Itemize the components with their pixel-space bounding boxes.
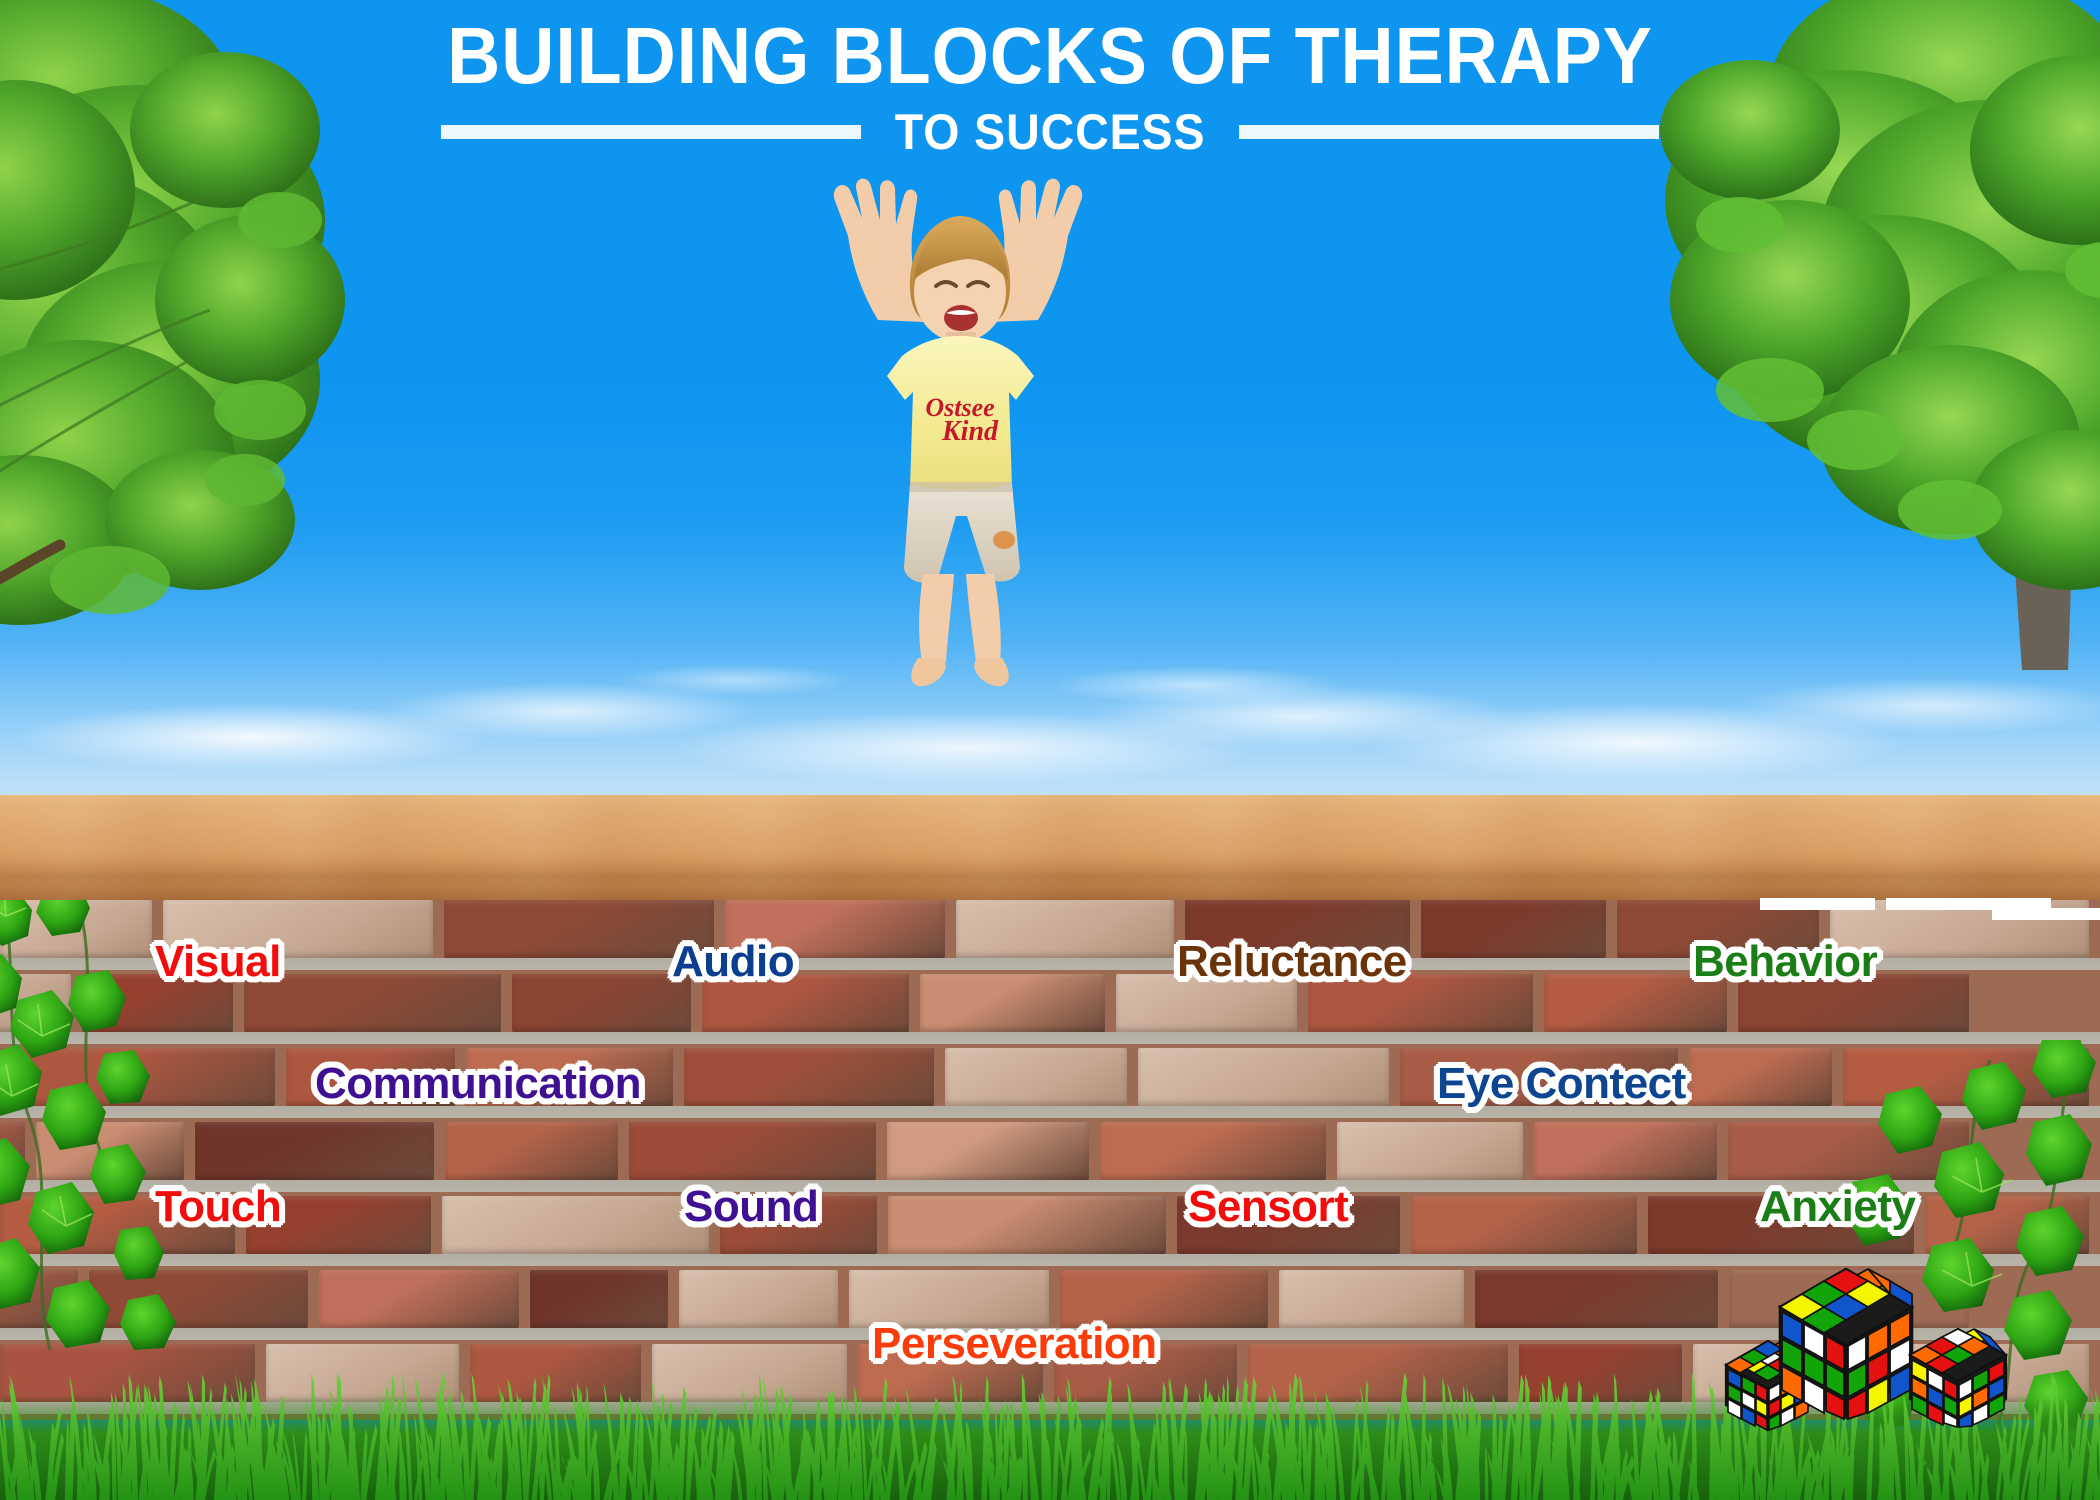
wall-label-sound[interactable]: Sound xyxy=(684,1185,818,1229)
left-arm xyxy=(834,179,924,322)
wall-label-touch[interactable]: Touch xyxy=(155,1185,281,1229)
rubiks-cube-right xyxy=(1910,1329,2006,1427)
wall-label-audio[interactable]: Audio xyxy=(672,940,794,984)
brick xyxy=(679,1270,838,1328)
brick xyxy=(1138,1048,1390,1106)
brick xyxy=(1411,1196,1637,1254)
right-leg xyxy=(966,574,1001,662)
brick xyxy=(1689,1048,1832,1106)
right-foot xyxy=(974,658,1009,686)
wall-label-visual[interactable]: Visual xyxy=(155,940,281,984)
brick xyxy=(244,974,501,1032)
plank-streak-3 xyxy=(1992,908,2100,920)
wall-label-communication[interactable]: Communication xyxy=(315,1062,641,1106)
brick xyxy=(530,1270,669,1328)
brick xyxy=(920,974,1105,1032)
brick xyxy=(887,1122,1089,1180)
brick xyxy=(1100,1122,1325,1180)
subtitle-row: TO SUCCESS xyxy=(0,104,2100,160)
brick xyxy=(319,1270,519,1328)
rubiks-cube-icon xyxy=(1722,1267,2022,1462)
brick xyxy=(0,974,71,1032)
wall-label-behavior[interactable]: Behavior xyxy=(1693,940,1877,984)
brick xyxy=(1728,1122,1969,1180)
shirt-logo-line2: Kind xyxy=(941,416,999,447)
jumping-child-icon: Ostsee Kind xyxy=(790,170,1130,690)
brick xyxy=(1337,1122,1524,1180)
brick xyxy=(1534,1122,1716,1180)
brick-row xyxy=(0,974,1980,1032)
left-leg xyxy=(919,574,954,662)
title-rule-left xyxy=(441,125,861,139)
brick xyxy=(1279,1270,1464,1328)
brick xyxy=(888,1196,1166,1254)
wooden-plank xyxy=(0,795,2100,900)
brick xyxy=(36,1122,184,1180)
wall-label-anxiety[interactable]: Anxiety xyxy=(1760,1185,1915,1229)
brick xyxy=(442,1196,710,1254)
brick xyxy=(956,900,1173,958)
wall-label-sensort[interactable]: Sensort xyxy=(1188,1185,1348,1229)
wall-label-eye-contect[interactable]: Eye Contect xyxy=(1437,1062,1686,1106)
left-foot xyxy=(911,658,946,686)
brick xyxy=(629,1122,876,1180)
title-rule-right xyxy=(1239,125,1659,139)
brick xyxy=(445,1122,618,1180)
brick xyxy=(0,900,152,958)
brick xyxy=(0,1270,78,1328)
brick xyxy=(1475,1270,1718,1328)
brick xyxy=(684,1048,935,1106)
brick xyxy=(89,1270,308,1328)
brick xyxy=(0,1122,25,1180)
rubiks-cube-center xyxy=(1780,1269,1912,1419)
wall-label-reluctance[interactable]: Reluctance xyxy=(1177,940,1407,984)
page-title: BUILDING BLOCKS OF THERAPY xyxy=(84,10,2016,102)
poster-canvas: BUILDING BLOCKS OF THERAPY TO SUCCESS xyxy=(0,0,2100,1500)
brick xyxy=(512,974,690,1032)
brick xyxy=(1421,900,1606,958)
brick xyxy=(0,1048,275,1106)
brick xyxy=(1925,1196,2089,1254)
wall-label-perseveration[interactable]: Perseveration xyxy=(872,1322,1157,1366)
poster-title-block: BUILDING BLOCKS OF THERAPY TO SUCCESS xyxy=(0,10,2100,160)
brick-row xyxy=(0,1122,1980,1180)
brick xyxy=(195,1122,434,1180)
brick xyxy=(945,1048,1126,1106)
brick xyxy=(1843,1048,2089,1106)
page-subtitle: TO SUCCESS xyxy=(895,104,1206,160)
plank-streak-1 xyxy=(1760,898,1875,910)
